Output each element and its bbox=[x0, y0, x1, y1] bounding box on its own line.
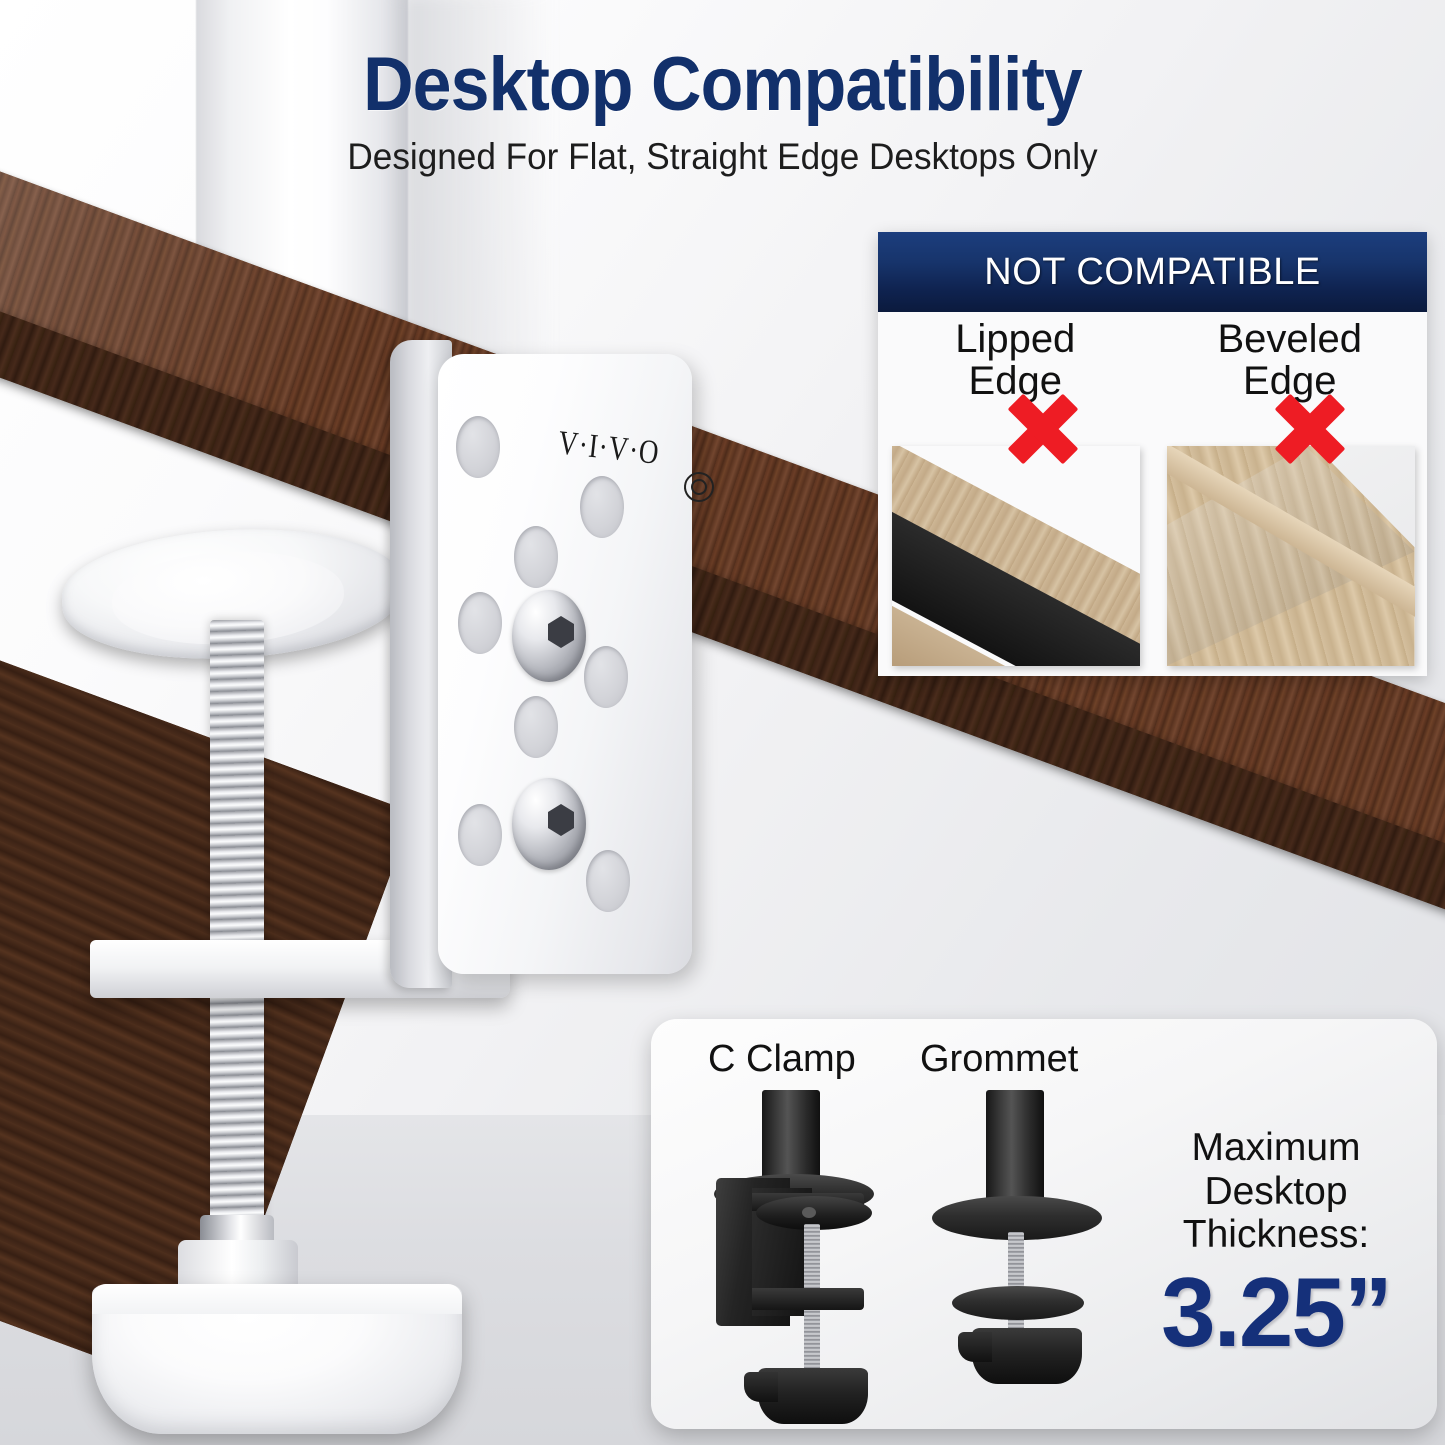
not-compatible-panel: NOT COMPATIBLE Lipped Edge bbox=[878, 232, 1427, 676]
dimple-hole bbox=[514, 696, 558, 758]
header: Desktop Compatibility Designed For Flat,… bbox=[0, 46, 1445, 176]
beveled-edge-illustration bbox=[1167, 446, 1415, 666]
c-clamp-lower-shelf bbox=[752, 1288, 864, 1310]
clamp-face-plate: V·I·V·O bbox=[438, 354, 692, 974]
wing-knob-lip bbox=[92, 1284, 462, 1314]
dimple-hole bbox=[586, 850, 630, 912]
c-clamp-label: C Clamp bbox=[708, 1038, 856, 1081]
not-compatible-body: Lipped Edge Beveled Edge bbox=[878, 312, 1427, 676]
hex-bolt-head bbox=[512, 590, 586, 682]
dimple-hole bbox=[456, 416, 500, 478]
lipped-edge-item: Lipped Edge bbox=[878, 312, 1153, 676]
max-thickness-line1: Maximum bbox=[1118, 1126, 1434, 1170]
beveled-edge-label-line1: Beveled bbox=[1153, 318, 1428, 360]
beveled-edge-item: Beveled Edge bbox=[1153, 312, 1428, 676]
c-clamp-illustration bbox=[700, 1090, 900, 1420]
page-subtitle: Designed For Flat, Straight Edge Desktop… bbox=[36, 138, 1409, 177]
dimple-hole bbox=[458, 592, 502, 654]
grommet-wing-knob bbox=[972, 1328, 1082, 1384]
hex-bolt-head bbox=[512, 778, 586, 870]
red-x-icon bbox=[1271, 390, 1349, 468]
lipped-edge-illustration bbox=[892, 446, 1140, 666]
grommet-washer-plate bbox=[952, 1286, 1084, 1320]
grommet-illustration bbox=[930, 1090, 1130, 1420]
dimple-hole bbox=[580, 476, 624, 538]
max-thickness-value: 3.25” bbox=[1118, 1263, 1434, 1361]
max-thickness-line2: Desktop Thickness: bbox=[1118, 1170, 1434, 1257]
c-clamp-wing-knob bbox=[758, 1368, 868, 1424]
max-thickness-block: Maximum Desktop Thickness: 3.25” bbox=[1118, 1126, 1434, 1361]
not-compatible-banner: NOT COMPATIBLE bbox=[878, 232, 1427, 312]
dimple-hole bbox=[514, 526, 558, 588]
dimple-hole bbox=[458, 804, 502, 866]
red-x-icon bbox=[1004, 390, 1082, 468]
c-clamp-bracket: V·I·V·O bbox=[390, 340, 690, 1020]
not-compatible-columns: Lipped Edge Beveled Edge bbox=[878, 312, 1427, 676]
lipped-edge-label-line1: Lipped bbox=[878, 318, 1153, 360]
page-title: Desktop Compatibility bbox=[58, 46, 1387, 124]
grommet-label: Grommet bbox=[920, 1038, 1078, 1081]
product-infographic: V·I·V·O NOT COMPATIBLE Lipped Edg bbox=[0, 0, 1445, 1445]
not-compatible-title: NOT COMPATIBLE bbox=[984, 251, 1320, 294]
dimple-hole bbox=[584, 646, 628, 708]
grommet-pole bbox=[986, 1090, 1044, 1208]
